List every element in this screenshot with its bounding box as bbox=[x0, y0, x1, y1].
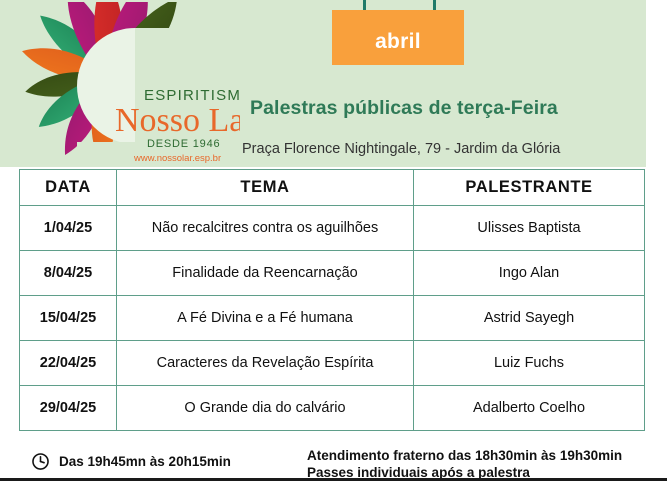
table-row: 15/04/25 A Fé Divina e a Fé humana Astri… bbox=[20, 296, 645, 341]
table-header-row: DATA TEMA PALESTRANTE bbox=[20, 170, 645, 206]
cell-theme: A Fé Divina e a Fé humana bbox=[117, 296, 414, 341]
footer-time-group: Das 19h45mn às 20h15min bbox=[31, 452, 231, 471]
footer-notes: Atendimento fraterno das 18h30min às 19h… bbox=[307, 447, 622, 482]
cell-date: 29/04/25 bbox=[20, 386, 117, 431]
address-line: Praça Florence Nightingale, 79 - Jardim … bbox=[242, 141, 560, 157]
cell-theme: O Grande dia do calvário bbox=[117, 386, 414, 431]
cell-date: 1/04/25 bbox=[20, 206, 117, 251]
column-header-data: DATA bbox=[20, 170, 117, 206]
cell-speaker: Ingo Alan bbox=[414, 251, 645, 296]
month-banner: abril bbox=[332, 10, 464, 65]
logo-website-text: www.nossolar.esp.br bbox=[133, 153, 221, 164]
footer-time-text: Das 19h45mn às 20h15min bbox=[59, 454, 231, 469]
cell-speaker: Luiz Fuchs bbox=[414, 341, 645, 386]
table-row: 8/04/25 Finalidade da Reencarnação Ingo … bbox=[20, 251, 645, 296]
clock-icon bbox=[31, 452, 50, 471]
cell-theme: Finalidade da Reencarnação bbox=[117, 251, 414, 296]
cell-speaker: Astrid Sayegh bbox=[414, 296, 645, 341]
cell-speaker: Ulisses Baptista bbox=[414, 206, 645, 251]
bottom-rule bbox=[0, 478, 667, 481]
logo-name-text: Nosso Lar bbox=[115, 102, 240, 139]
page-title: Palestras públicas de terça-Feira bbox=[250, 97, 558, 120]
cell-date: 22/04/25 bbox=[20, 341, 117, 386]
logo-since-text: DESDE 1946 bbox=[147, 138, 220, 150]
cell-date: 8/04/25 bbox=[20, 251, 117, 296]
column-header-tema: TEMA bbox=[117, 170, 414, 206]
organization-logo: ESPIRITISMO Nosso Lar DESDE 1946 www.nos… bbox=[22, 2, 240, 165]
schedule-table: DATA TEMA PALESTRANTE 1/04/25 Não recalc… bbox=[19, 169, 645, 431]
table-row: 1/04/25 Não recalcitres contra os aguilh… bbox=[20, 206, 645, 251]
header-band: ESPIRITISMO Nosso Lar DESDE 1946 www.nos… bbox=[0, 0, 646, 167]
cell-date: 15/04/25 bbox=[20, 296, 117, 341]
cell-speaker: Adalberto Coelho bbox=[414, 386, 645, 431]
cell-theme: Não recalcitres contra os aguilhões bbox=[117, 206, 414, 251]
cell-theme: Caracteres da Revelação Espírita bbox=[117, 341, 414, 386]
footer-note-line-1: Atendimento fraterno das 18h30min às 19h… bbox=[307, 447, 622, 464]
table-row: 29/04/25 O Grande dia do calvário Adalbe… bbox=[20, 386, 645, 431]
table-row: 22/04/25 Caracteres da Revelação Espírit… bbox=[20, 341, 645, 386]
column-header-palestrante: PALESTRANTE bbox=[414, 170, 645, 206]
month-label: abril bbox=[375, 23, 421, 52]
footer: Das 19h45mn às 20h15min Atendimento frat… bbox=[0, 441, 667, 482]
